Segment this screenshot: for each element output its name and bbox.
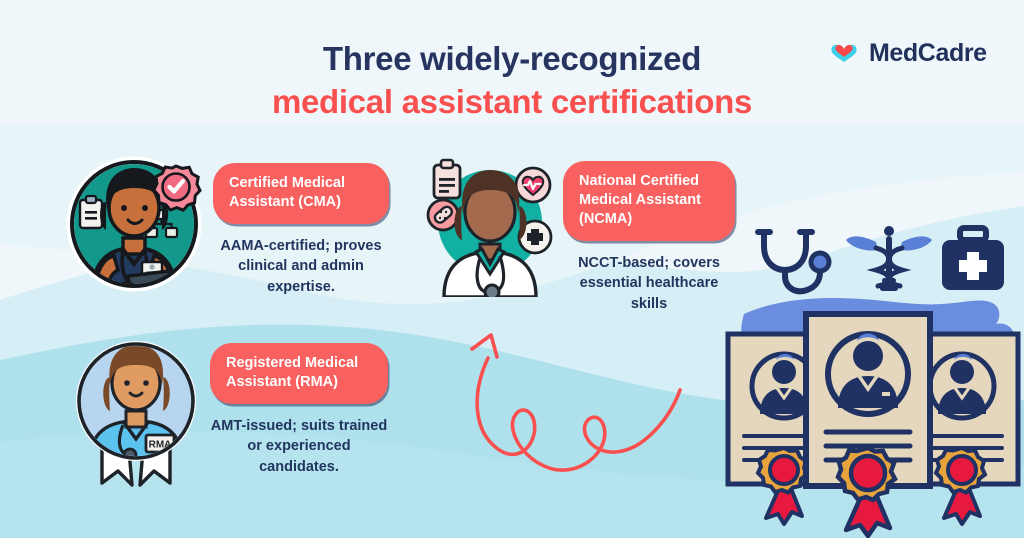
logo-mark bbox=[828, 38, 860, 68]
illustration-rma-badge: RMA bbox=[66, 335, 206, 493]
stethoscope-icon bbox=[758, 232, 829, 291]
infographic-canvas: MedCadre Three widely-recognized medical… bbox=[0, 0, 1024, 538]
bandage-icon bbox=[428, 200, 458, 230]
brand-logo[interactable]: MedCadre bbox=[828, 38, 987, 68]
card-ncma: National Certified Medical Assistant (NC… bbox=[563, 161, 735, 314]
medical-icons-row bbox=[752, 224, 1014, 296]
seal-left bbox=[758, 448, 807, 524]
medical-bag-icon bbox=[942, 228, 1004, 290]
clipboard-icon bbox=[80, 196, 102, 228]
description-ncma: NCCT-based; covers essential healthcare … bbox=[563, 253, 735, 315]
title-line-2: medical assistant certifications bbox=[0, 81, 1024, 124]
pill-label-rma[interactable]: Registered Medical Assistant (RMA) bbox=[210, 343, 388, 404]
certificate-center bbox=[806, 314, 930, 536]
description-cma: AAMA-certified; proves clinical and admi… bbox=[213, 236, 389, 298]
seal-center bbox=[838, 448, 895, 536]
illustration-cma-nurse bbox=[66, 152, 206, 297]
certificates-illustration bbox=[722, 290, 1024, 538]
card-cma: Certified Medical Assistant (CMA) AAMA-c… bbox=[213, 163, 389, 297]
clipboard-icon bbox=[434, 160, 460, 198]
certification-check-badge bbox=[154, 166, 200, 210]
pill-label-ncma[interactable]: National Certified Medical Assistant (NC… bbox=[563, 161, 735, 241]
seal-right bbox=[936, 448, 985, 524]
brand-name: MedCadre bbox=[869, 39, 987, 68]
caduceus-icon bbox=[846, 226, 932, 291]
curly-arrow-icon bbox=[458, 322, 708, 482]
card-rma: Registered Medical Assistant (RMA) AMT-i… bbox=[210, 343, 388, 477]
description-rma: AMT-issued; suits trained or experienced… bbox=[210, 416, 388, 478]
heart-pulse-icon bbox=[516, 168, 550, 202]
pill-label-cma[interactable]: Certified Medical Assistant (CMA) bbox=[213, 163, 389, 224]
illustration-ncma-doctor bbox=[420, 152, 560, 297]
